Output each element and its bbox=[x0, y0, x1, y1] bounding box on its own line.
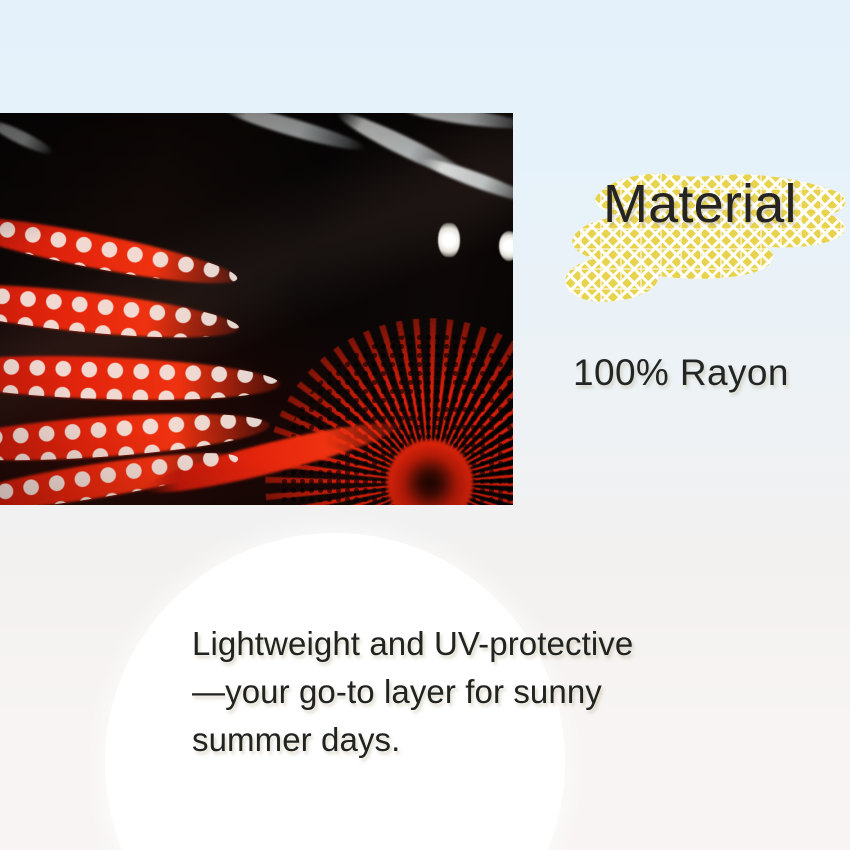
photo-vignette bbox=[0, 113, 513, 505]
description-line-2: —your go-to layer for sunny bbox=[192, 668, 712, 716]
page-title: Material bbox=[603, 176, 797, 233]
material-value: 100% Rayon bbox=[573, 352, 789, 394]
fabric-swatch-photo bbox=[0, 113, 513, 505]
product-detail-slide: Material 100% Rayon Lightweight and UV-p… bbox=[0, 0, 850, 850]
description-text: Lightweight and UV-protective —your go-t… bbox=[192, 620, 712, 764]
description-line-1: Lightweight and UV-protective bbox=[192, 620, 712, 668]
description-line-3: summer days. bbox=[192, 716, 712, 764]
